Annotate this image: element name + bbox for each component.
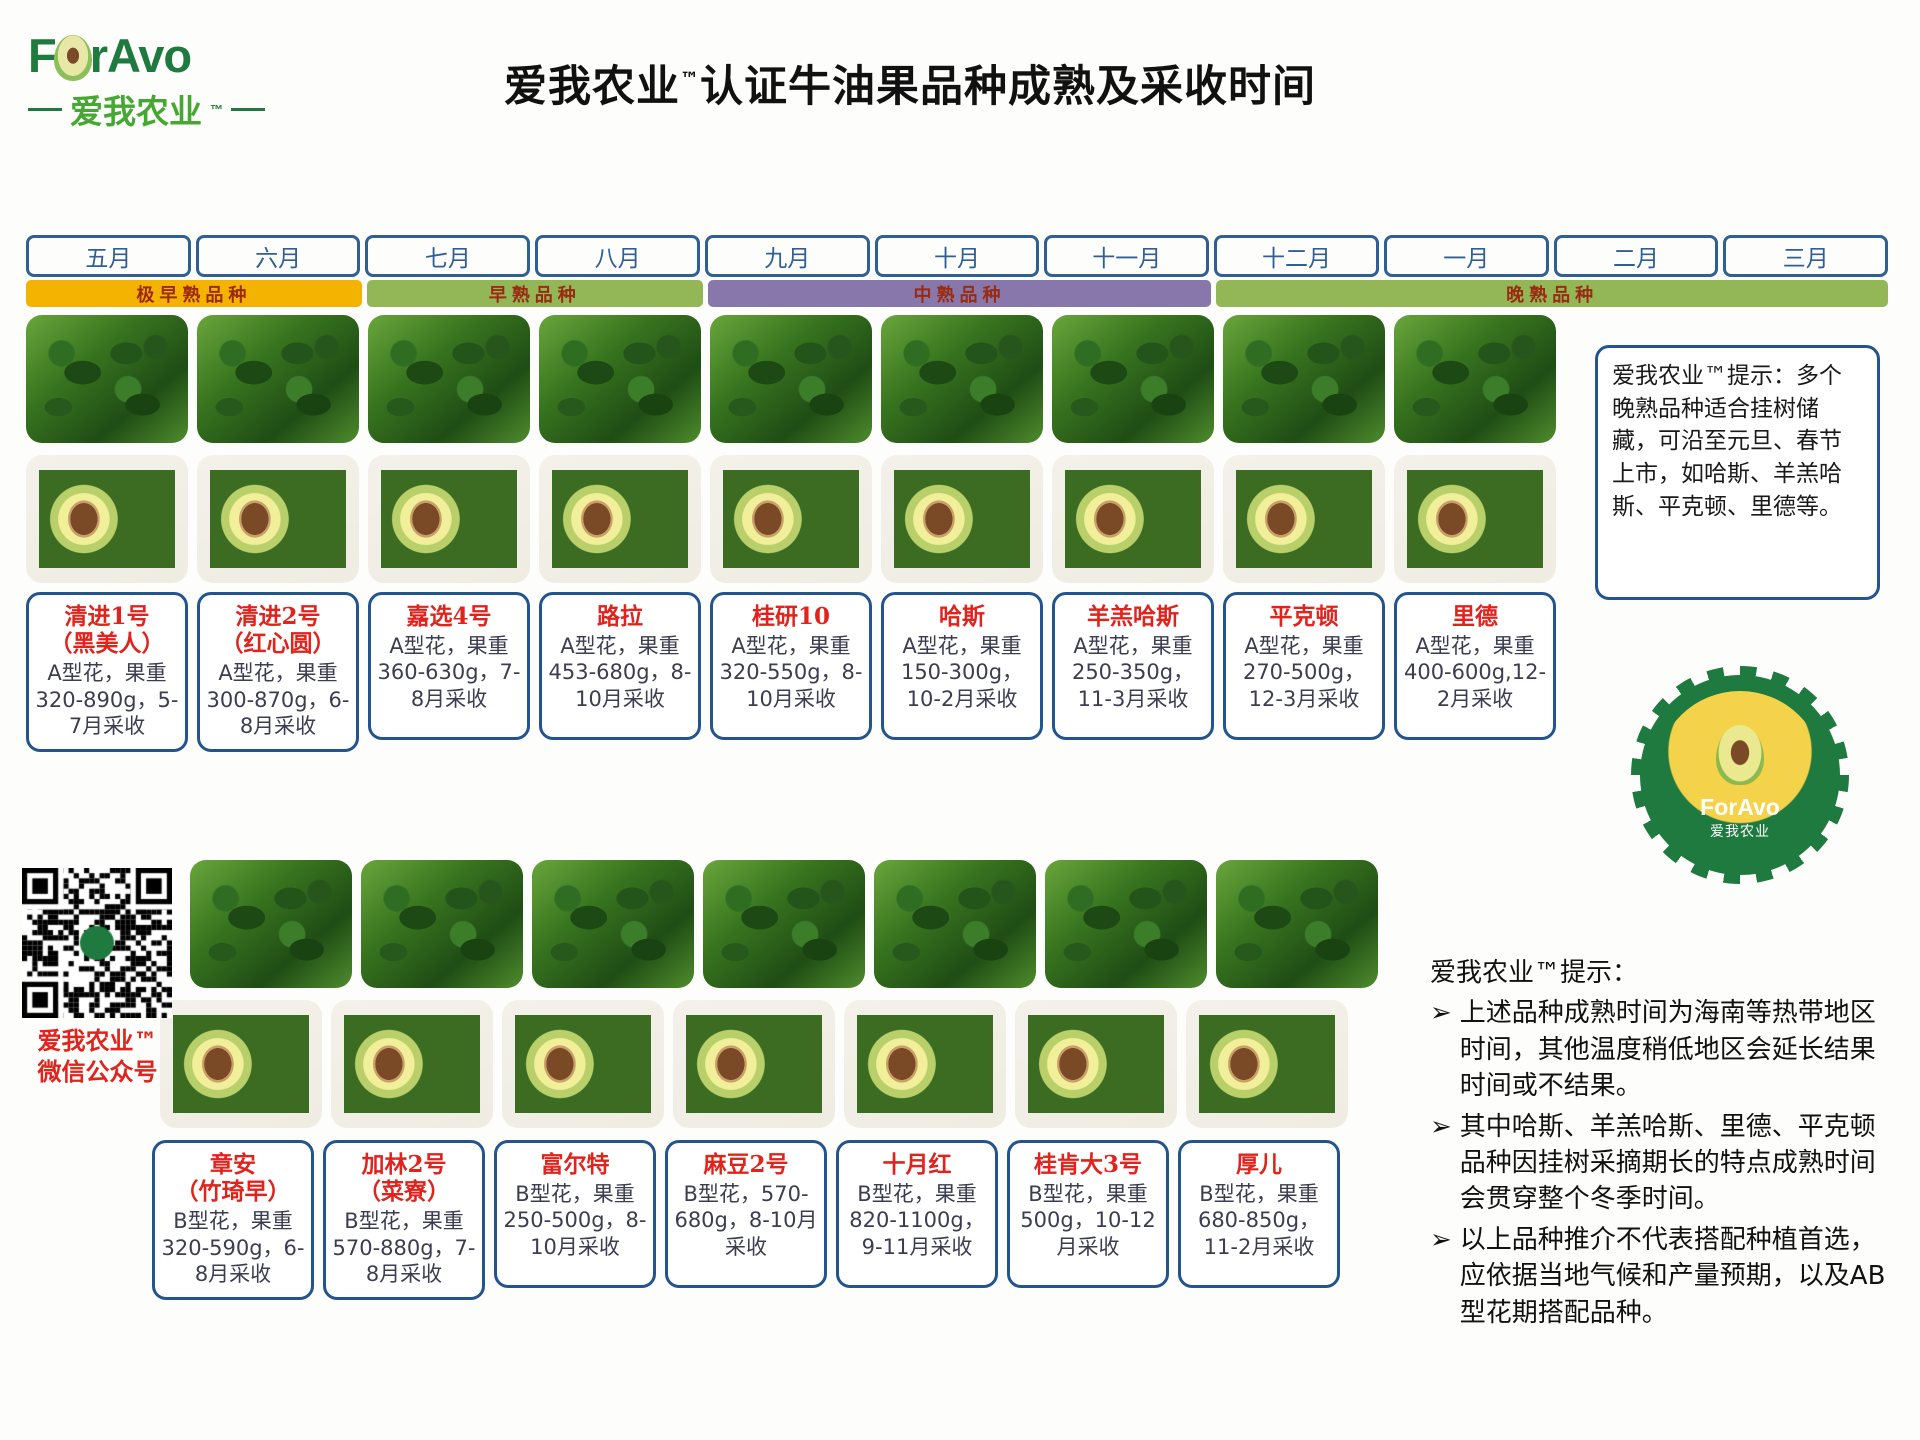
variety-description: A型花，果重250-350g，11-3月采收 xyxy=(1061,633,1205,712)
season-band-3: 中熟品种 xyxy=(708,280,1212,307)
tree-photo-6 xyxy=(881,315,1043,443)
fruit-photo-5 xyxy=(844,1000,1006,1128)
fruit-photo-7 xyxy=(1186,1000,1348,1128)
variety-card-清进2号: 清进2号（红心圆）A型花，果重300-870g，6-8月采收 xyxy=(197,592,359,752)
variety-description: A型花，果重400-600g,12-2月采收 xyxy=(1403,633,1547,712)
tree-photo-6 xyxy=(1045,860,1207,988)
page-title-tm: ™ xyxy=(680,69,700,91)
fruit-photo-9 xyxy=(1394,455,1556,583)
fruit-photo-8 xyxy=(1223,455,1385,583)
variety-name: 十月红 xyxy=(845,1151,989,1178)
variety-card-嘉选4号: 嘉选4号A型花，果重360-630g，7-8月采收 xyxy=(368,592,530,740)
month-header-row: 五月六月七月八月九月十月十一月十二月一月二月三月 xyxy=(26,235,1888,277)
season-band-row: 极早熟品种早熟品种中熟品种晚熟品种 xyxy=(26,280,1888,307)
bullet-arrow-icon: ➢ xyxy=(1430,1109,1452,1218)
tips-block: 爱我农业™提示： ➢上述品种成熟时间为海南等热带地区时间，其他温度稍低地区会延长… xyxy=(1430,955,1900,1335)
variety-card-麻豆2号: 麻豆2号B型花，570-680g，8-10月采收 xyxy=(665,1140,827,1288)
certification-seal: ForAvo 爱我农业 xyxy=(1640,675,1840,875)
fruit-photo-3 xyxy=(368,455,530,583)
tree-photo-3 xyxy=(532,860,694,988)
variety-description: A型花，果重320-550g，8-10月采收 xyxy=(719,633,863,712)
variety-description: A型花，果重300-870g，6-8月采收 xyxy=(206,660,350,739)
variety-alias: （菜寮） xyxy=(332,1178,476,1205)
month-cell-2: 六月 xyxy=(196,235,361,277)
variety-name: 哈斯 xyxy=(890,603,1034,630)
variety-card-章安: 章安（竹琦早）B型花，果重320-590g，6-8月采收 xyxy=(152,1140,314,1300)
fruit-photo-3 xyxy=(502,1000,664,1128)
variety-description: B型花，果重500g，10-12月采收 xyxy=(1016,1181,1160,1260)
tree-photo-2 xyxy=(197,315,359,443)
bullet-arrow-icon: ➢ xyxy=(1430,1222,1452,1331)
late-variety-note: 爱我农业™提示：多个晚熟品种适合挂树储藏，可沿至元旦、春节上市，如哈斯、羊羔哈斯… xyxy=(1595,345,1880,600)
tree-photo-8 xyxy=(1223,315,1385,443)
tree-photo-1 xyxy=(190,860,352,988)
variety-description: A型花，果重150-300g，10-2月采收 xyxy=(890,633,1034,712)
variety-description: B型花，果重820-1100g，9-11月采收 xyxy=(845,1181,989,1260)
tips-list: ➢上述品种成熟时间为海南等热带地区时间，其他温度稍低地区会延长结果时间或不结果。… xyxy=(1430,995,1900,1331)
variety-card-桂研10: 桂研10A型花，果重320-550g，8-10月采收 xyxy=(710,592,872,740)
month-cell-4: 八月 xyxy=(535,235,700,277)
logo-rule-right xyxy=(231,108,265,111)
tree-photo-7 xyxy=(1216,860,1378,988)
variety-name: 章安 xyxy=(161,1151,305,1178)
variety-description: A型花，果重320-890g，5-7月采收 xyxy=(35,660,179,739)
season-band-4: 晚熟品种 xyxy=(1216,280,1888,307)
fruit-photo-1 xyxy=(26,455,188,583)
variety-name: 嘉选4号 xyxy=(377,603,521,630)
seal-brand-cn: 爱我农业 xyxy=(1710,821,1770,841)
variety-alias: （黑美人） xyxy=(35,630,179,657)
logo-chinese-text: 爱我农业 xyxy=(70,85,202,133)
page-title: 爱我农业™认证牛油果品种成熟及采收时间 xyxy=(380,52,1440,114)
month-cell-8: 十二月 xyxy=(1214,235,1379,277)
fruit-photo-7 xyxy=(1052,455,1214,583)
row2-fruit-photos xyxy=(160,1000,1348,1128)
tip-text: 其中哈斯、羊羔哈斯、里德、平克顿品种因挂树采摘期长的特点成熟时间会贯穿整个冬季时… xyxy=(1460,1109,1900,1218)
row1-variety-cards: 清进1号（黑美人）A型花，果重320-890g，5-7月采收清进2号（红心圆）A… xyxy=(26,592,1571,752)
logo-chinese: 爱我农业 ™ xyxy=(28,85,298,133)
variety-name: 里德 xyxy=(1403,603,1547,630)
variety-card-清进1号: 清进1号（黑美人）A型花，果重320-890g，5-7月采收 xyxy=(26,592,188,752)
variety-name: 羊羔哈斯 xyxy=(1061,603,1205,630)
fruit-photo-6 xyxy=(1015,1000,1177,1128)
tree-photo-3 xyxy=(368,315,530,443)
variety-card-加林2号: 加林2号（菜寮）B型花，果重570-880g，7-8月采收 xyxy=(323,1140,485,1300)
month-cell-10: 二月 xyxy=(1554,235,1719,277)
fruit-photo-2 xyxy=(331,1000,493,1128)
month-cell-9: 一月 xyxy=(1384,235,1549,277)
month-cell-3: 七月 xyxy=(365,235,530,277)
seal-inner: ForAvo 爱我农业 xyxy=(1656,691,1824,859)
variety-name: 加林2号 xyxy=(332,1151,476,1178)
qr-caption-line1: 爱我农业™ xyxy=(10,1026,185,1057)
logo-wordmark: FrAvo xyxy=(28,32,298,81)
fruit-photo-4 xyxy=(673,1000,835,1128)
tree-photo-5 xyxy=(874,860,1036,988)
variety-name: 厚儿 xyxy=(1187,1151,1331,1178)
variety-card-十月红: 十月红B型花，果重820-1100g，9-11月采收 xyxy=(836,1140,998,1288)
tree-photo-1 xyxy=(26,315,188,443)
variety-name: 麻豆2号 xyxy=(674,1151,818,1178)
logo-letters-ravo: rAvo xyxy=(90,29,191,82)
seal-avocado-icon xyxy=(1716,725,1764,785)
fruit-photo-4 xyxy=(539,455,701,583)
row2-tree-photos xyxy=(190,860,1378,988)
variety-description: A型花，果重270-500g，12-3月采收 xyxy=(1232,633,1376,712)
month-cell-1: 五月 xyxy=(26,235,191,277)
tree-photo-7 xyxy=(1052,315,1214,443)
variety-description: A型花，果重360-630g，7-8月采收 xyxy=(377,633,521,712)
variety-name: 富尔特 xyxy=(503,1151,647,1178)
variety-description: B型花，果重250-500g，8-10月采收 xyxy=(503,1181,647,1260)
variety-name: 清进1号 xyxy=(35,603,179,630)
month-cell-11: 三月 xyxy=(1723,235,1888,277)
month-cell-5: 九月 xyxy=(705,235,870,277)
logo-letter-f: F xyxy=(28,29,56,82)
variety-description: B型花，果重680-850g，11-2月采收 xyxy=(1187,1181,1331,1260)
qr-caption: 爱我农业™ 微信公众号 xyxy=(10,1026,185,1088)
variety-description: B型花，果重320-590g，6-8月采收 xyxy=(161,1208,305,1287)
variety-name: 路拉 xyxy=(548,603,692,630)
qr-caption-line2: 微信公众号 xyxy=(10,1057,185,1088)
variety-card-哈斯: 哈斯A型花，果重150-300g，10-2月采收 xyxy=(881,592,1043,740)
wechat-qr-code[interactable] xyxy=(22,868,172,1018)
month-cell-7: 十一月 xyxy=(1044,235,1209,277)
row2-variety-cards: 章安（竹琦早）B型花，果重320-590g，6-8月采收加林2号（菜寮）B型花，… xyxy=(152,1140,1367,1300)
variety-card-厚儿: 厚儿B型花，果重680-850g，11-2月采收 xyxy=(1178,1140,1340,1288)
variety-name: 清进2号 xyxy=(206,603,350,630)
tips-heading: 爱我农业™提示： xyxy=(1430,955,1900,991)
variety-card-里德: 里德A型花，果重400-600g,12-2月采收 xyxy=(1394,592,1556,740)
variety-card-平克顿: 平克顿A型花，果重270-500g，12-3月采收 xyxy=(1223,592,1385,740)
variety-alias: （竹琦早） xyxy=(161,1178,305,1205)
variety-card-羊羔哈斯: 羊羔哈斯A型花，果重250-350g，11-3月采收 xyxy=(1052,592,1214,740)
tree-photo-4 xyxy=(539,315,701,443)
logo-tm: ™ xyxy=(210,102,223,117)
brand-logo: FrAvo 爱我农业 ™ xyxy=(28,32,298,142)
seal-brand-name: ForAvo xyxy=(1700,794,1780,821)
tip-item-2: ➢其中哈斯、羊羔哈斯、里德、平克顿品种因挂树采摘期长的特点成熟时间会贯穿整个冬季… xyxy=(1430,1109,1900,1218)
season-band-1: 极早熟品种 xyxy=(26,280,362,307)
avocado-icon xyxy=(54,35,92,81)
variety-name: 桂研10 xyxy=(719,603,863,630)
variety-description: B型花，果重570-880g，7-8月采收 xyxy=(332,1208,476,1287)
variety-name: 平克顿 xyxy=(1232,603,1376,630)
variety-description: A型花，果重453-680g，8-10月采收 xyxy=(548,633,692,712)
bullet-arrow-icon: ➢ xyxy=(1430,995,1452,1104)
season-band-2: 早熟品种 xyxy=(367,280,703,307)
page-title-brand: 爱我农业 xyxy=(504,62,680,112)
variety-name: 桂肯大3号 xyxy=(1016,1151,1160,1178)
variety-card-富尔特: 富尔特B型花，果重250-500g，8-10月采收 xyxy=(494,1140,656,1288)
variety-card-桂肯大3号: 桂肯大3号B型花，果重500g，10-12月采收 xyxy=(1007,1140,1169,1288)
variety-description: B型花，570-680g，8-10月采收 xyxy=(674,1181,818,1260)
tip-item-3: ➢以上品种推介不代表搭配种植首选，应依据当地气候和产量预期，以及AB型花期搭配品… xyxy=(1430,1222,1900,1331)
fruit-photo-2 xyxy=(197,455,359,583)
variety-alias: （红心圆） xyxy=(206,630,350,657)
row1-fruit-photos xyxy=(26,455,1556,583)
tree-photo-4 xyxy=(703,860,865,988)
tree-photo-5 xyxy=(710,315,872,443)
tip-text: 上述品种成熟时间为海南等热带地区时间，其他温度稍低地区会延长结果时间或不结果。 xyxy=(1460,995,1900,1104)
page-title-rest: 认证牛油果品种成熟及采收时间 xyxy=(700,62,1316,112)
tree-photo-2 xyxy=(361,860,523,988)
fruit-photo-5 xyxy=(710,455,872,583)
logo-rule-left xyxy=(28,108,62,111)
month-cell-6: 十月 xyxy=(875,235,1040,277)
row1-tree-photos xyxy=(26,315,1556,443)
variety-card-路拉: 路拉A型花，果重453-680g，8-10月采收 xyxy=(539,592,701,740)
fruit-photo-6 xyxy=(881,455,1043,583)
tip-item-1: ➢上述品种成熟时间为海南等热带地区时间，其他温度稍低地区会延长结果时间或不结果。 xyxy=(1430,995,1900,1104)
tip-text: 以上品种推介不代表搭配种植首选，应依据当地气候和产量预期，以及AB型花期搭配品种… xyxy=(1460,1222,1900,1331)
tree-photo-9 xyxy=(1394,315,1556,443)
